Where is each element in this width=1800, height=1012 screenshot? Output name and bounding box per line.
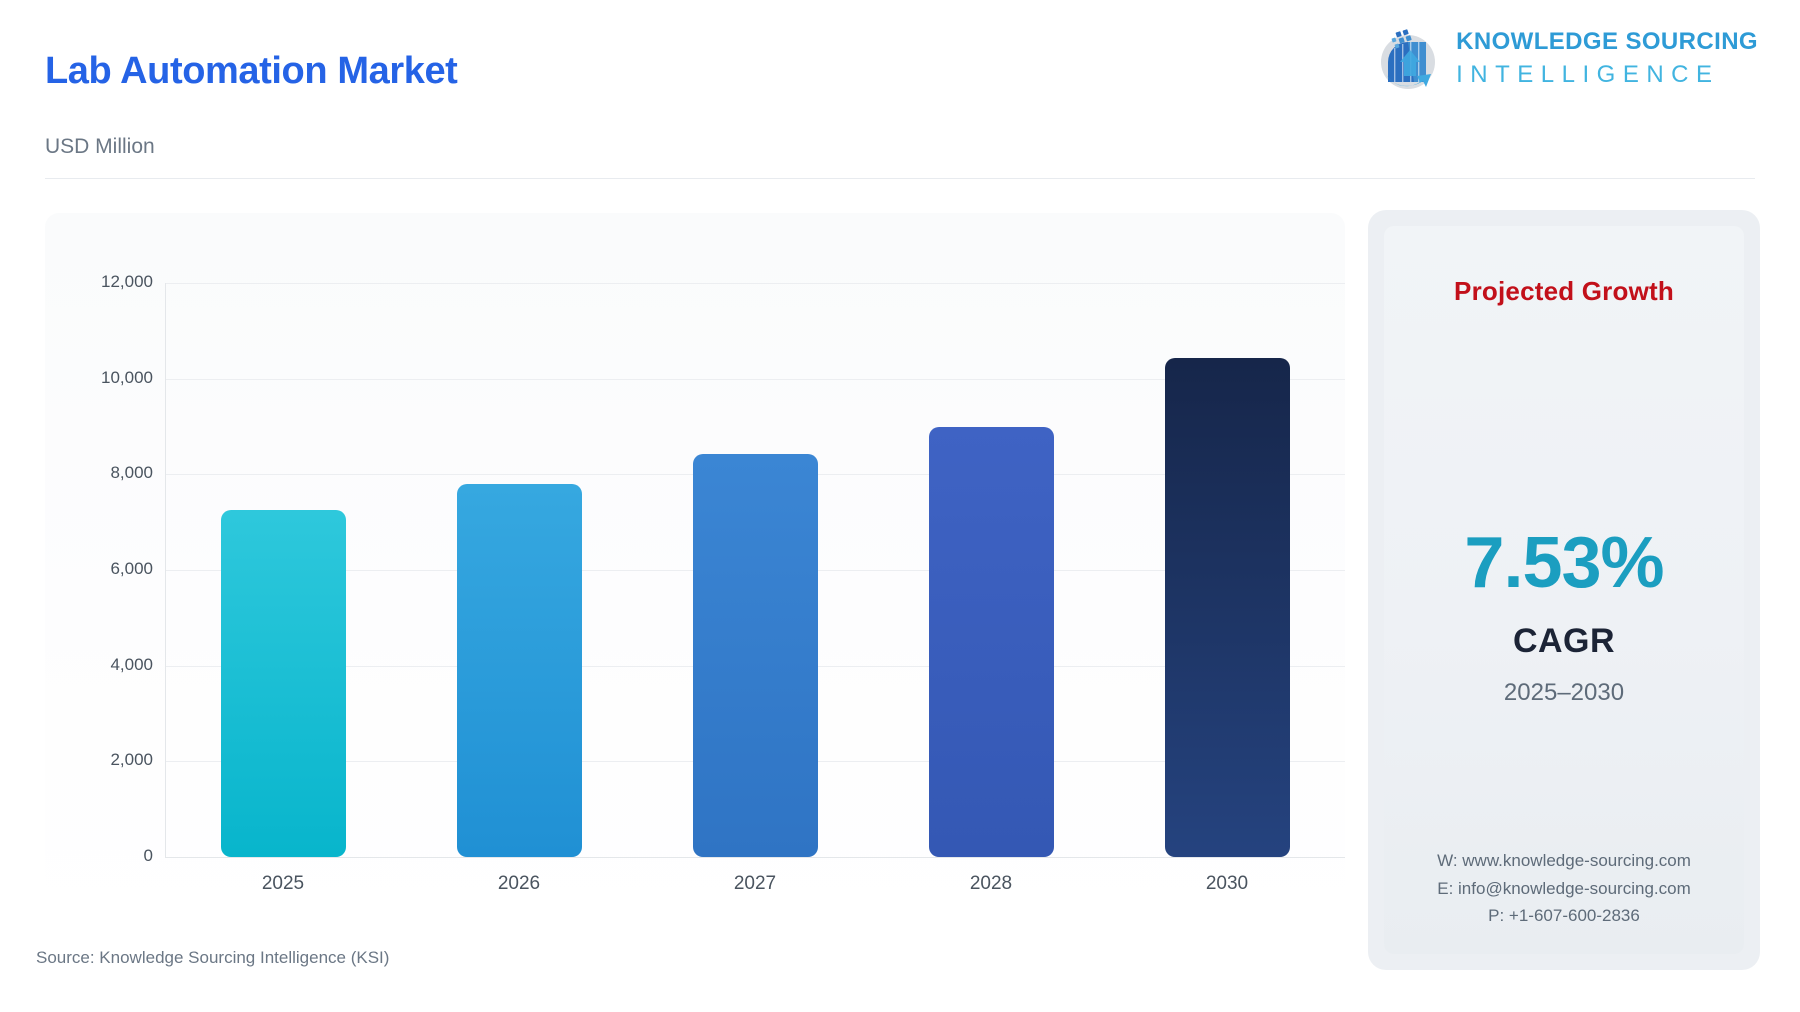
bar-2028[interactable]	[929, 427, 1054, 858]
bar-2027[interactable]	[693, 454, 818, 857]
page-header: Lab Automation Market USD Million	[0, 0, 1800, 178]
cagr-value: 7.53%	[1464, 522, 1663, 604]
projected-growth-panel: Projected Growth 7.53% CAGR 2025–2030 W:…	[1368, 210, 1760, 970]
page-title: Lab Automation Market	[45, 50, 457, 93]
y-axis-tick-label: 6,000	[33, 559, 153, 579]
bar-2026[interactable]	[457, 484, 582, 857]
panel-heading: Projected Growth	[1454, 276, 1674, 307]
bar-slot	[896, 283, 1086, 857]
bar-2030[interactable]	[1165, 358, 1290, 857]
bar-series	[165, 283, 1345, 857]
bar-slot	[424, 283, 614, 857]
company-logo: KNOWLEDGE SOURCING INTELLIGENCE	[1374, 24, 1758, 92]
header-divider	[45, 178, 1755, 179]
y-axis-tick-label: 2,000	[33, 750, 153, 770]
bar-slot	[660, 283, 850, 857]
chart-page: Lab Automation Market USD Million	[0, 0, 1800, 1012]
contact-website[interactable]: W: www.knowledge-sourcing.com	[1384, 847, 1744, 875]
bar-slot	[188, 283, 378, 857]
logo-line-intelligence: INTELLIGENCE	[1456, 63, 1758, 87]
ksi-badge-icon	[1374, 24, 1442, 92]
x-axis-label-2028: 2028	[896, 873, 1086, 913]
contact-block: W: www.knowledge-sourcing.com E: info@kn…	[1384, 847, 1744, 930]
x-axis-labels: 20252026202720282030	[165, 873, 1345, 913]
y-axis-tick-label: 0	[33, 846, 153, 866]
page-subtitle: USD Million	[45, 135, 155, 159]
y-axis-tick-label: 8,000	[33, 463, 153, 483]
cagr-period: 2025–2030	[1504, 679, 1624, 707]
chart-card: 12,00010,0008,0006,0004,0002,0000 202520…	[45, 213, 1345, 930]
x-axis-label-2027: 2027	[660, 873, 850, 913]
contact-phone[interactable]: P: +1-607-600-2836	[1384, 902, 1744, 930]
x-axis-label-2030: 2030	[1132, 873, 1322, 913]
bar-chart-plot: 12,00010,0008,0006,0004,0002,0000 202520…	[45, 213, 1345, 930]
source-note: Source: Knowledge Sourcing Intelligence …	[36, 948, 389, 968]
x-axis-label-2026: 2026	[424, 873, 614, 913]
y-axis-tick-label: 10,000	[33, 368, 153, 388]
y-axis-tick-label: 4,000	[33, 655, 153, 675]
x-axis-label-2025: 2025	[188, 873, 378, 913]
cagr-label: CAGR	[1513, 622, 1615, 661]
bar-2025[interactable]	[221, 510, 346, 857]
bar-slot	[1132, 283, 1322, 857]
x-axis-line	[165, 857, 1345, 858]
logo-line-knowledge-sourcing: KNOWLEDGE SOURCING	[1456, 30, 1758, 54]
y-axis-tick-label: 12,000	[33, 272, 153, 292]
contact-email[interactable]: E: info@knowledge-sourcing.com	[1384, 875, 1744, 903]
